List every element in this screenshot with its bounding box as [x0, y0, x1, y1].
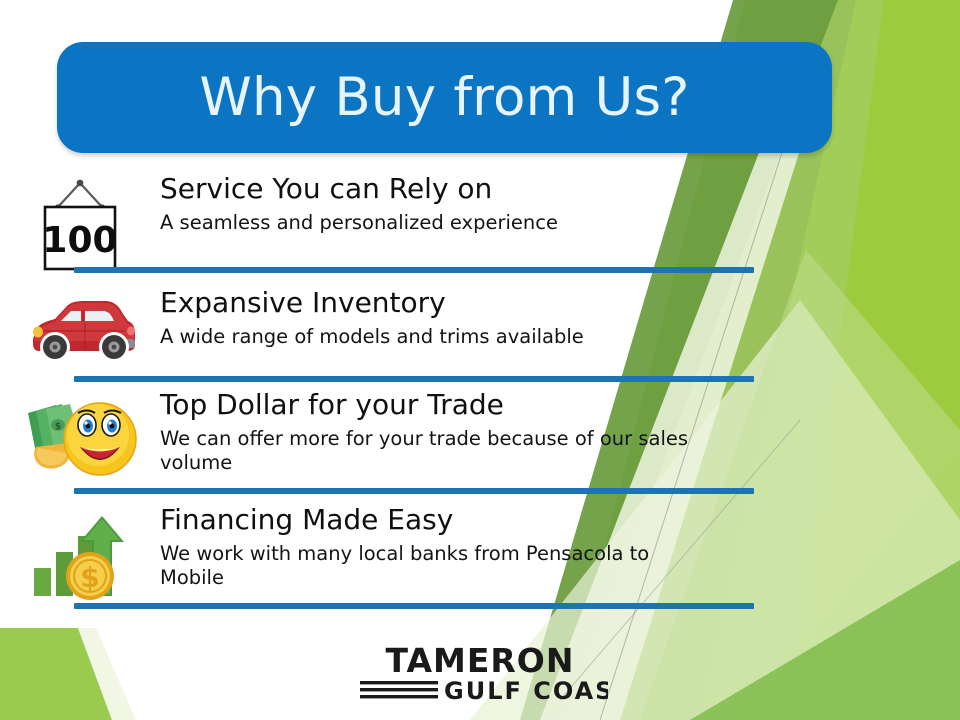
- svg-text:$: $: [80, 561, 99, 594]
- item-subtitle: We can offer more for your trade because…: [160, 427, 695, 474]
- logo-primary-text: TAMERON: [386, 641, 575, 680]
- list-item: Expansive Inventory A wide range of mode…: [0, 275, 960, 383]
- score-value: 100: [42, 220, 117, 261]
- row-divider: [74, 376, 754, 382]
- icon-cell: $: [0, 389, 160, 481]
- score-100-sign-icon: 100: [34, 177, 126, 273]
- slide-canvas: Why Buy from Us? 100: [0, 0, 960, 720]
- item-subtitle: We work with many local banks from Pensa…: [160, 542, 695, 589]
- row-divider: [74, 603, 754, 609]
- icon-cell: 100: [0, 173, 160, 273]
- text-cell: Expansive Inventory A wide range of mode…: [160, 287, 960, 349]
- item-title: Service You can Rely on: [160, 173, 946, 204]
- page-title: Why Buy from Us?: [199, 71, 689, 124]
- text-cell: Service You can Rely on A seamless and p…: [160, 173, 960, 235]
- logo-secondary-text: GULF COAST: [444, 677, 608, 705]
- text-cell: Financing Made Easy We work with many lo…: [160, 504, 960, 589]
- icon-cell: [0, 287, 160, 369]
- icon-cell: $: [0, 504, 160, 602]
- smiley-with-money-icon: $: [22, 391, 138, 481]
- deco-shape-bottom-left-pale: [78, 628, 136, 720]
- row-divider: [74, 267, 754, 273]
- svg-text:$: $: [55, 422, 61, 432]
- list-item: $: [0, 383, 960, 496]
- item-title: Financing Made Easy: [160, 504, 946, 535]
- logo-stripes-icon: [360, 681, 438, 698]
- bar-1: [34, 568, 51, 596]
- row-divider: [74, 488, 754, 494]
- benefits-list: 100 Service You can Rely on A seamless a…: [0, 165, 960, 611]
- item-title: Expansive Inventory: [160, 287, 946, 318]
- slide-title-banner: Why Buy from Us?: [57, 42, 832, 153]
- tameron-gulf-coast-logo: TAMERON GULF COAST: [352, 640, 608, 712]
- item-title: Top Dollar for your Trade: [160, 389, 946, 420]
- deco-shape-bottom-left: [0, 628, 112, 720]
- item-subtitle: A wide range of models and trims availab…: [160, 325, 695, 348]
- growth-chart-coin-icon: $: [24, 510, 136, 602]
- list-item: $ Financing Made Easy We work with many …: [0, 496, 960, 611]
- list-item: 100 Service You can Rely on A seamless a…: [0, 165, 960, 275]
- red-car-icon: [19, 291, 141, 369]
- item-subtitle: A seamless and personalized experience: [160, 211, 695, 234]
- text-cell: Top Dollar for your Trade We can offer m…: [160, 389, 960, 474]
